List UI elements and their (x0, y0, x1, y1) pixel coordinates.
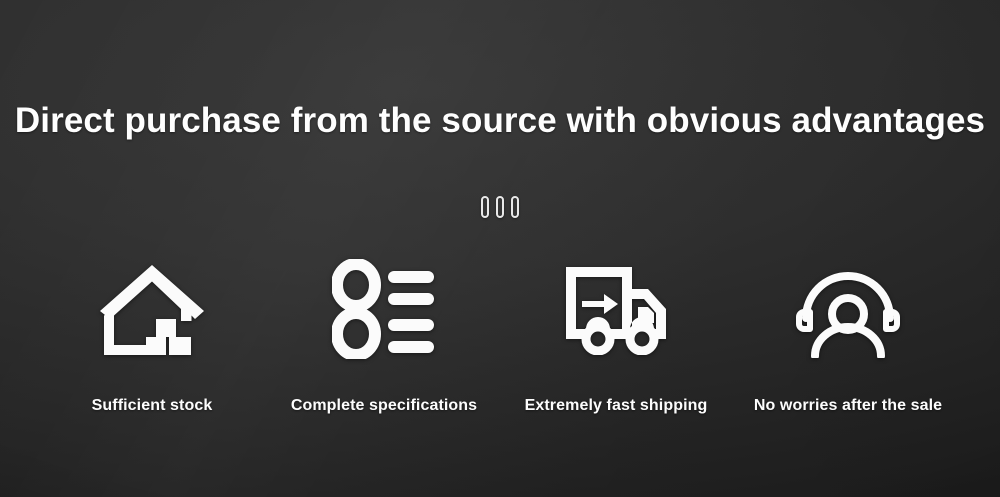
feature-item-fast-shipping: Extremely fast shipping (500, 258, 732, 415)
feature-list: Sufficient stock (36, 258, 964, 415)
banner-headline: Direct purchase from the source with obv… (0, 101, 1000, 141)
delivery-truck-icon (562, 258, 670, 360)
feature-item-after-sale-support: No worries after the sale (732, 258, 964, 415)
divider-pip-icon (481, 196, 489, 218)
feature-label: Sufficient stock (92, 397, 213, 415)
promo-banner: Direct purchase from the source with obv… (0, 0, 1000, 497)
specification-list-icon (332, 258, 436, 360)
feature-label: Complete specifications (291, 397, 477, 415)
feature-label: Extremely fast shipping (525, 397, 708, 415)
divider-pip-icon (511, 196, 519, 218)
banner-content: Direct purchase from the source with obv… (0, 0, 1000, 497)
warehouse-house-boxes-icon (96, 258, 208, 360)
divider-pip-icon (496, 196, 504, 218)
feature-item-complete-specifications: Complete specifications (268, 258, 500, 415)
three-pip-divider (0, 196, 1000, 218)
feature-label: No worries after the sale (754, 397, 942, 415)
customer-support-headset-icon (796, 258, 900, 360)
feature-item-sufficient-stock: Sufficient stock (36, 258, 268, 415)
